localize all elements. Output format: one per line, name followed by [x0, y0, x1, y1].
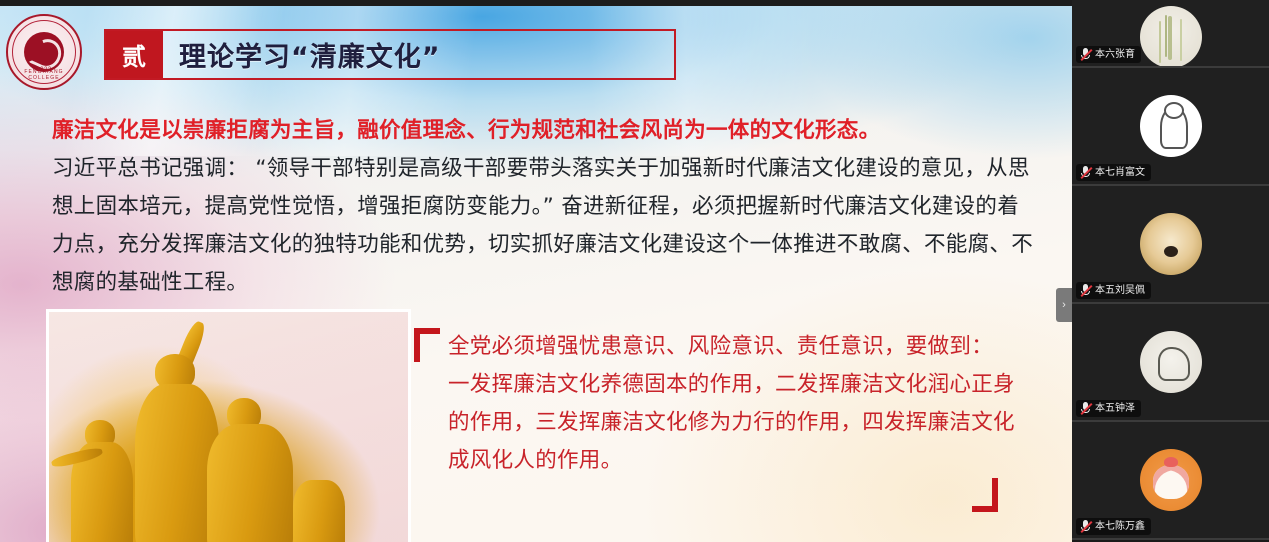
participant-name-badge: 本七陈万鑫 — [1076, 518, 1151, 535]
shared-screen-stage[interactable]: 2022 FENGXIANG COLLEGE 贰 理论学习“清廉文化” 廉洁文化… — [0, 0, 1072, 542]
quote-lines: 全党必须增强忧患意识、风险意识、责任意识，要做到：一发挥廉洁文化养德固本的作用，… — [414, 328, 1014, 480]
quote-bracket-top-left — [414, 328, 440, 362]
participant-name: 本七肖富文 — [1095, 167, 1145, 179]
mic-muted-icon — [1080, 520, 1091, 533]
avatar — [1140, 449, 1202, 511]
seal-swirl-mark — [24, 32, 64, 72]
body-paragraph-line: 习近平总书记强调： “领导干部特别是高级干部要带头落实关于加强新时代廉洁文化建设… — [52, 150, 1018, 188]
avatar — [1140, 213, 1202, 275]
slide-body-text: 廉洁文化是以崇廉拒腐为主旨，融价值理念、行为规范和社会风尚为一体的文化形态。习近… — [52, 112, 1018, 302]
participant-name-badge: 本五钟泽 — [1076, 400, 1141, 417]
body-paragraph-line: 想腐的基础性工程。 — [52, 264, 1018, 302]
participant-tile[interactable]: 本五钟泽 — [1072, 304, 1269, 422]
revolutionary-statue-photo — [46, 309, 411, 542]
avatar — [1140, 6, 1202, 68]
presentation-slide: 2022 FENGXIANG COLLEGE 贰 理论学习“清廉文化” 廉洁文化… — [0, 6, 1072, 542]
slide-title-text: 理论学习“清廉文化” — [163, 31, 674, 78]
quote-line: 的作用，三发挥廉洁文化修为力行的作用，四发挥廉洁文化 — [414, 404, 1014, 442]
avatar — [1140, 331, 1202, 393]
chevron-right-icon: › — [1062, 299, 1066, 311]
slide-title-bar: 贰 理论学习“清廉文化” — [104, 29, 676, 80]
collapse-panel-handle[interactable]: › — [1056, 288, 1072, 322]
mic-muted-icon — [1080, 166, 1091, 179]
participant-tile[interactable]: 本七陈万鑫 — [1072, 422, 1269, 540]
participant-name: 本五钟泽 — [1095, 403, 1135, 415]
body-paragraph-line: 廉洁文化是以崇廉拒腐为主旨，融价值理念、行为规范和社会风尚为一体的文化形态。 — [52, 112, 1018, 150]
participant-name-badge: 本六张育 — [1076, 46, 1141, 63]
participant-name-badge: 本五刘吴佩 — [1076, 282, 1151, 299]
college-seal-logo: 2022 FENGXIANG COLLEGE — [6, 14, 82, 90]
participant-name: 本五刘吴佩 — [1095, 285, 1145, 297]
quote-line: 成风化人的作用。 — [414, 442, 1014, 480]
participant-tile[interactable]: 本七肖富文 — [1072, 68, 1269, 186]
slide-section-number: 贰 — [106, 31, 163, 78]
participant-name-badge: 本七肖富文 — [1076, 164, 1151, 181]
participant-name: 本七陈万鑫 — [1095, 521, 1145, 533]
mic-muted-icon — [1080, 284, 1091, 297]
quote-line: 一发挥廉洁文化养德固本的作用，二发挥廉洁文化润心正身 — [414, 366, 1014, 404]
participant-tile[interactable]: 本五刘吴佩 — [1072, 186, 1269, 304]
participant-tile[interactable]: 本六张育 — [1072, 0, 1269, 68]
statue-worker-body — [207, 424, 293, 542]
slide-quote-block: 全党必须增强忧患意识、风险意识、责任意识，要做到：一发挥廉洁文化养德固本的作用，… — [414, 328, 1014, 480]
meeting-screen-share-window: 2022 FENGXIANG COLLEGE 贰 理论学习“清廉文化” 廉洁文化… — [0, 0, 1269, 542]
seal-english-text: FENGXIANG COLLEGE — [8, 69, 80, 81]
quote-bracket-bottom-right — [972, 478, 998, 512]
participant-name: 本六张育 — [1095, 49, 1135, 61]
quote-line: 全党必须增强忧患意识、风险意识、责任意识，要做到： — [414, 328, 1014, 366]
body-paragraph-line: 力点，充分发挥廉洁文化的独特功能和优势，切实抓好廉洁文化建设这个一体推进不敢腐、… — [52, 226, 1018, 264]
mic-muted-icon — [1080, 402, 1091, 415]
statue-child-figure — [293, 480, 345, 542]
avatar — [1140, 95, 1202, 157]
body-paragraph-line: 想上固本培元，提高党性觉悟，增强拒腐防变能力。” 奋进新征程，必须把握新时代廉洁… — [52, 188, 1018, 226]
participant-filmstrip[interactable]: 本六张育本七肖富文本五刘吴佩本五钟泽本七陈万鑫 — [1072, 0, 1269, 542]
mic-muted-icon — [1080, 48, 1091, 61]
